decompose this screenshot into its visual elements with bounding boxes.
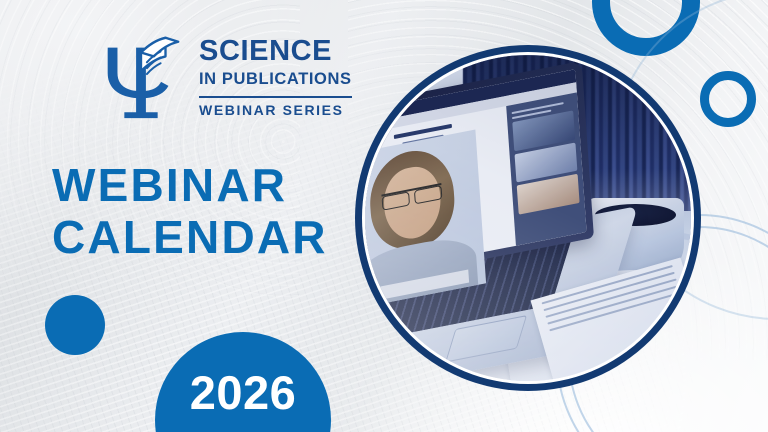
brand-line-in-publications: IN PUBLICATIONS	[199, 67, 352, 92]
psi-book-icon	[92, 28, 190, 126]
brand-line-webinar-series: WEBINAR SERIES	[199, 102, 352, 119]
headline-line-2: CALENDAR	[52, 212, 328, 264]
brand-divider	[199, 96, 352, 98]
page-title: WEBINAR CALENDAR	[52, 160, 328, 264]
brand-logo: SCIENCE IN PUBLICATIONS WEBINAR SERIES	[92, 28, 352, 126]
webinar-laptop-photo	[355, 45, 701, 391]
photo-ring-gap	[362, 52, 694, 384]
brand-wordmark: SCIENCE IN PUBLICATIONS WEBINAR SERIES	[199, 35, 352, 119]
headline-line-1: WEBINAR	[52, 160, 328, 212]
blue-dot	[45, 295, 105, 355]
year-badge-label: 2026	[190, 332, 297, 416]
brand-line-science: SCIENCE	[199, 37, 352, 67]
webinar-calendar-banner: SCIENCE IN PUBLICATIONS WEBINAR SERIES W…	[0, 0, 768, 432]
year-badge: 2026	[155, 332, 331, 432]
photo-clip	[365, 55, 691, 381]
